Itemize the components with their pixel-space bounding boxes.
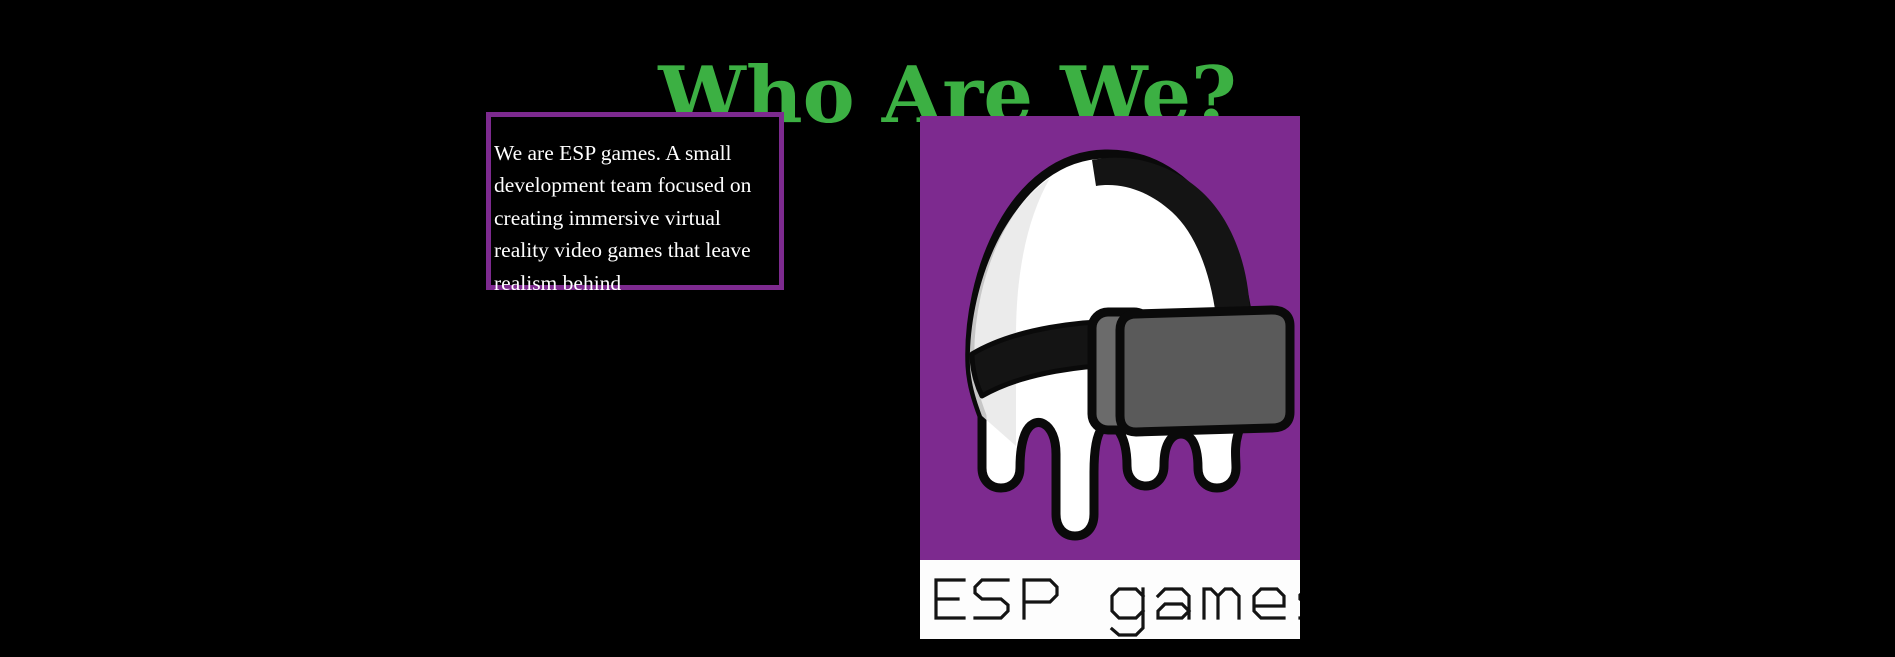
headset-visor: [1120, 310, 1290, 432]
about-text-box: We are ESP games. A small development te…: [486, 112, 784, 290]
logo-artwork-panel: [920, 116, 1300, 560]
logo-wordmark-panel: [920, 560, 1300, 639]
esp-games-logo: [920, 116, 1300, 639]
vr-crewmate-icon: [920, 116, 1300, 560]
esp-games-wordmark: [920, 560, 1300, 639]
page-root: Who Are We? We are ESP games. A small de…: [0, 0, 1895, 657]
about-paragraph: We are ESP games. A small development te…: [491, 133, 781, 300]
